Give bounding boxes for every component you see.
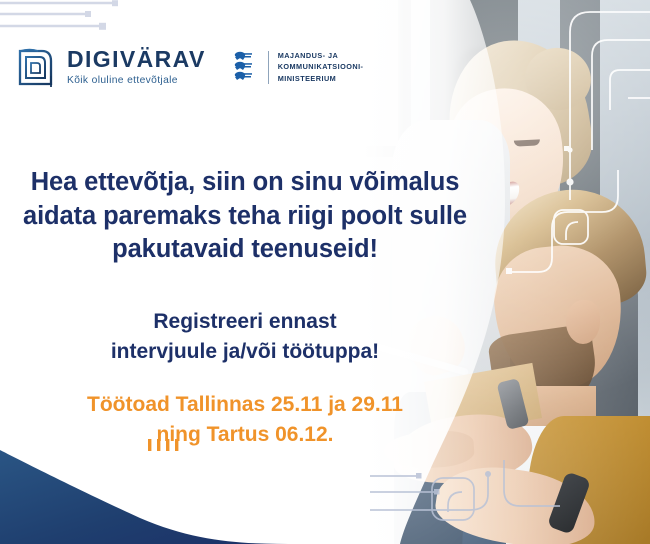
ministry-logo[interactable]: Majandus- ja Kommunikatsiooni- ministeer… <box>232 50 364 84</box>
headline-text: Hea ettevõtja, siin on sinu võimalus aid… <box>0 166 490 267</box>
headline-line-2: aidata paremaks teha riigi poolt sulle <box>0 200 490 234</box>
circuit-grey-overlay <box>370 460 560 544</box>
headline-line-1: Hea ettevõtja, siin on sinu võimalus <box>0 166 490 200</box>
digivarav-spiral-mark-icon <box>16 46 58 88</box>
estonia-three-lions-coat-of-arms-icon <box>232 50 259 84</box>
dates-line-1: Töötoad Tallinnas 25.11 ja 29.11 <box>0 390 490 420</box>
dates-line-2: ning Tartus 06.12. <box>0 420 490 450</box>
header-logos: DIGIVÄRAV Kõik oluline ettevõtjale <box>16 46 363 88</box>
headline-line-3: pakutavaid teenuseid! <box>0 233 490 267</box>
subheadline-line-1: Registreeri ennast <box>0 307 490 337</box>
top-left-circuit-lines <box>0 0 230 40</box>
circuit-white-overlay <box>470 0 650 280</box>
subheadline-line-2: intervjuule ja/või töötuppa! <box>0 337 490 367</box>
ministry-line-1: Majandus- ja <box>278 51 339 60</box>
ministry-line-2: Kommunikatsiooni- <box>278 62 364 71</box>
workshop-dates-text: Töötoad Tallinnas 25.11 ja 29.11 ning Ta… <box>0 390 490 450</box>
ministry-divider <box>268 51 269 84</box>
man-ear <box>566 300 600 344</box>
digivarav-tagline: Kõik oluline ettevõtjale <box>67 76 206 86</box>
promo-poster: DIGIVÄRAV Kõik oluline ettevõtjale <box>0 0 650 544</box>
digivarav-title: DIGIVÄRAV <box>67 48 206 71</box>
digivarav-logo[interactable]: DIGIVÄRAV Kõik oluline ettevõtjale <box>16 46 206 88</box>
subheadline-text: Registreeri ennast intervjuule ja/või tö… <box>0 307 490 367</box>
ministry-line-3: ministeerium <box>278 74 337 83</box>
